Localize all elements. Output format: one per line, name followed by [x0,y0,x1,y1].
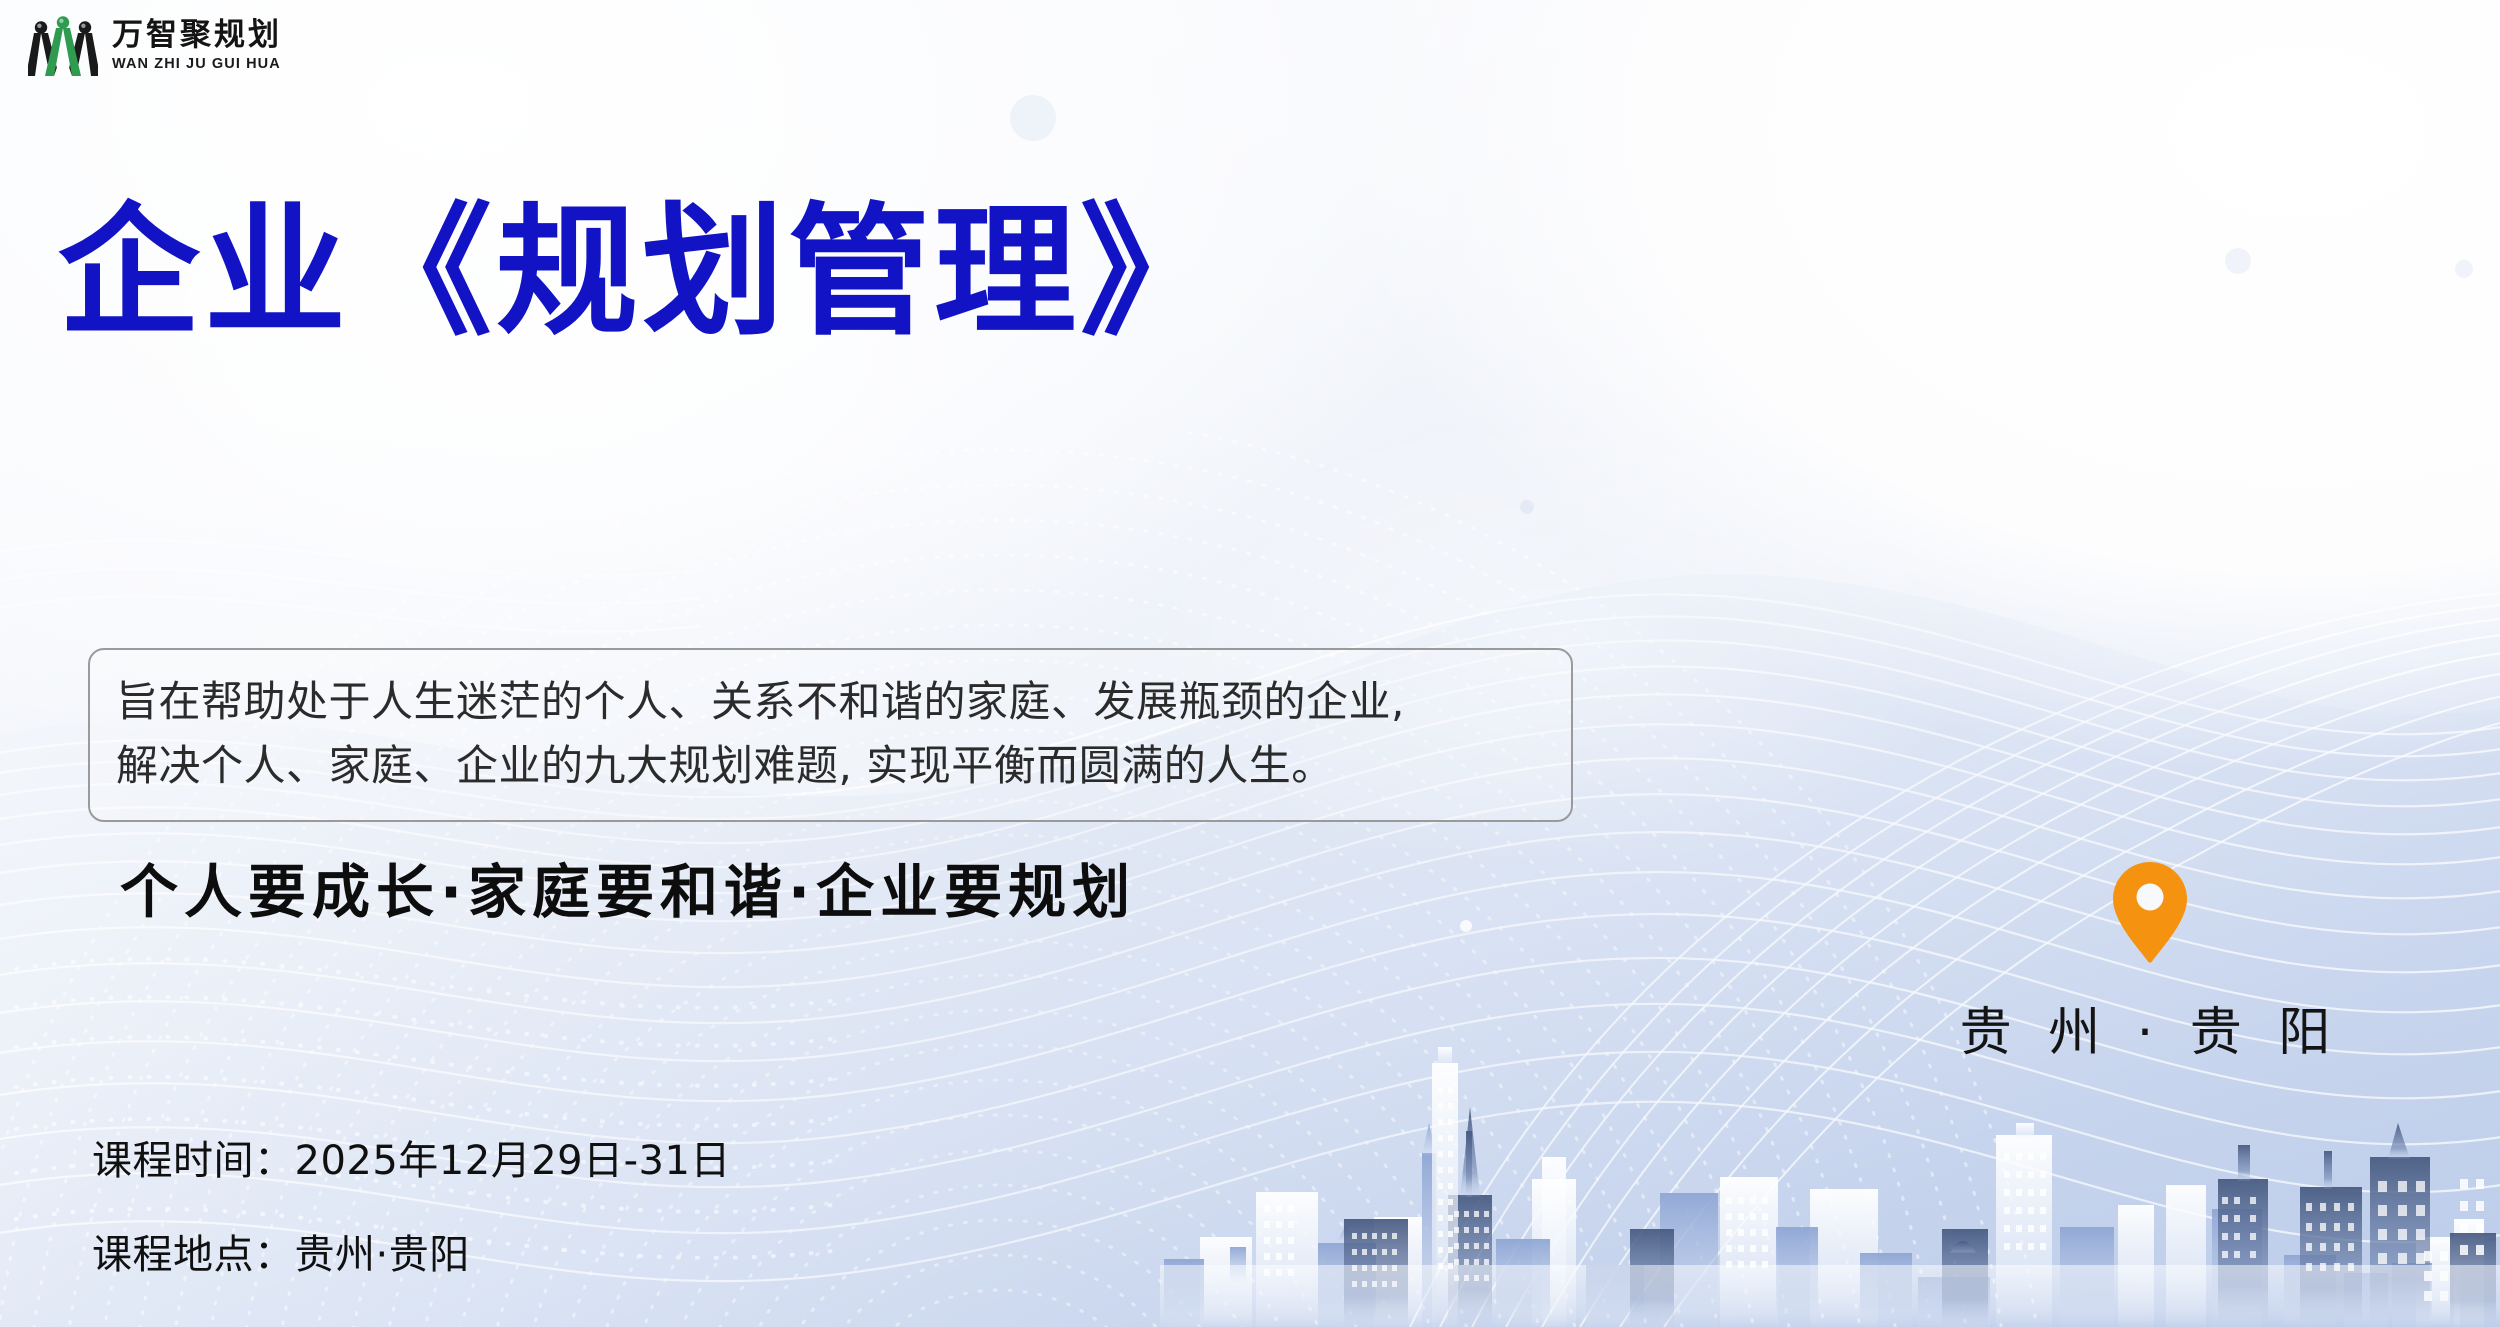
location-city: 贵 州 · 贵 阳 [1940,990,2360,1065]
description-box: 旨在帮助处于人生迷茫的个人、关系不和谐的家庭、发展瓶颈的企业, 解决个人、家庭、… [88,648,1573,822]
headline-block: 企业《规划管理》 [58,196,1058,426]
decor-circle [1520,500,1534,514]
decor-circle [2455,260,2473,278]
brand-name-cn: 万智聚规划 [112,19,282,50]
course-time: 课程时间：2025年12月29日-31日 [92,1128,731,1186]
description-line-2: 解决个人、家庭、企业的九大规划难题, 实现平衡而圆满的人生。 [116,734,1545,798]
course-info: 课程时间：2025年12月29日-31日 课程地点：贵州·贵阳 [92,1128,731,1280]
decor-circle [1010,95,1056,141]
slogan-text: 个人要成长·家庭要和谐·企业要规划 [120,845,1136,929]
decor-circle [1460,920,1472,932]
location-block: 贵 州 · 贵 阳 [1940,860,2360,1065]
brand-logo[interactable]: 万智聚规划 WAN ZHI JU GUI HUA [28,14,282,76]
description-line-1: 旨在帮助处于人生迷茫的个人、关系不和谐的家庭、发展瓶颈的企业, [116,670,1545,734]
brand-wordmark: 万智聚规划 WAN ZHI JU GUI HUA [112,19,282,72]
three-people-logo-icon [28,14,98,76]
poster-canvas: 万智聚规划 WAN ZHI JU GUI HUA 企业《规划管理》 企业《规划管… [0,0,2500,1327]
decor-circle [2225,248,2251,274]
map-pin-icon [2111,860,2189,964]
city-skyline-icon [1160,1027,2500,1327]
page-title: 企业《规划管理》 [58,196,1058,349]
course-place: 课程地点：贵州·贵阳 [92,1222,731,1280]
brand-name-en: WAN ZHI JU GUI HUA [112,57,282,72]
